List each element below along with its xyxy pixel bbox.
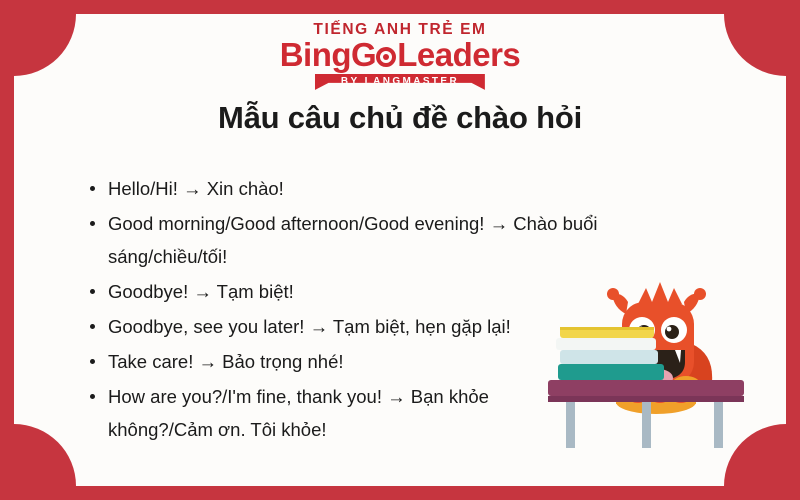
logo-wordmark-part2: Leaders [397,36,520,73]
list-item: How are you?/I'm fine, thank you! → Bạn … [86,380,566,446]
logo-ribbon: BY LANGMASTER [315,74,485,90]
corner-cutout-bottom-left [14,424,76,486]
logo-wordmark: BingGLeaders [14,38,786,73]
page-title: Mẫu câu chủ đề chào hỏi [14,100,786,136]
red-frame: TIẾNG ANH TRẺ EM BingGLeaders BY LANGMAS… [0,0,800,500]
brand-logo: TIẾNG ANH TRẺ EM BingGLeaders BY LANGMAS… [14,20,786,90]
list-item: Hello/Hi! → Xin chào! [86,172,676,205]
list-item: Good morning/Good afternoon/Good evening… [86,207,676,273]
logo-ribbon-wrap: BY LANGMASTER [14,74,786,90]
content-card: TIẾNG ANH TRẺ EM BingGLeaders BY LANGMAS… [14,14,786,486]
monster-student-illustration [534,272,764,452]
logo-wordmark-part1: BingG [280,36,376,73]
target-circle-icon [376,47,396,67]
